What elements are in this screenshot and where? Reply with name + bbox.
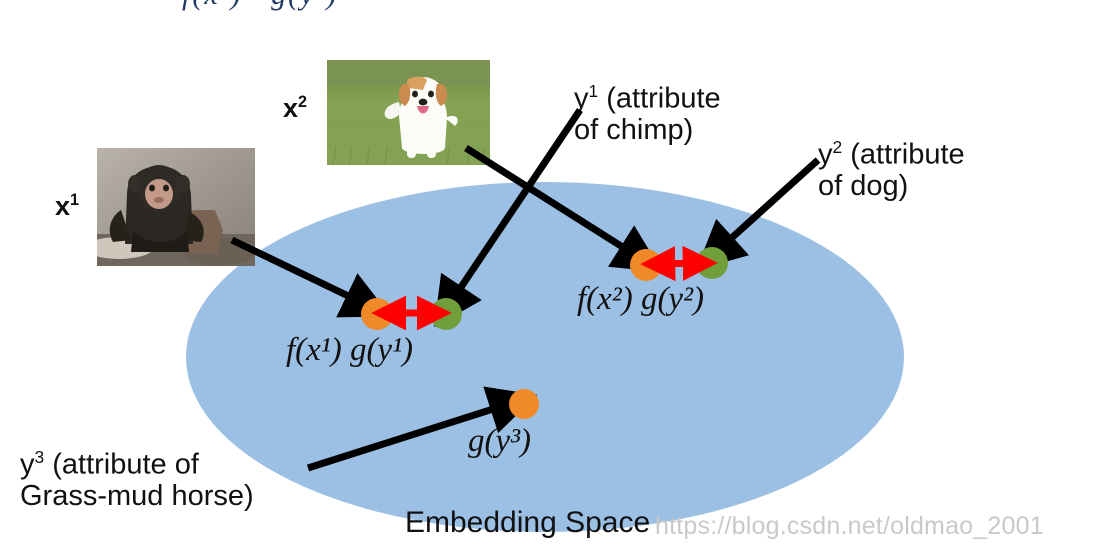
slide-canvas: f(x¹) · g(y¹): [0, 0, 1118, 556]
watermark-text: https://blog.csdn.net/oldmao_2001: [655, 512, 1044, 541]
chimp-photo-graphic: [97, 148, 255, 266]
embedding-space-label: Embedding Space: [405, 506, 650, 540]
fx1-gy1-label: f(x¹) g(y¹): [286, 332, 413, 369]
gy3-label: g(y³): [468, 423, 531, 460]
y1-attribute-label: y1 (attribute of chimp): [574, 82, 721, 146]
top-clipped-formula: f(x¹) · g(y¹): [182, 0, 338, 12]
x2-image-label: x2: [283, 94, 307, 123]
dog-photo-graphic: [327, 60, 490, 165]
x1-image-label: x1: [55, 192, 79, 221]
y3-attribute-label: y3 (attribute of Grass-mud horse): [20, 448, 254, 512]
y2-attribute-label: y2 (attribute of dog): [818, 138, 965, 202]
dog-photo: [327, 60, 490, 165]
fx2-gy2-label: f(x²) g(y²): [577, 281, 704, 318]
chimp-photo: [97, 148, 255, 266]
